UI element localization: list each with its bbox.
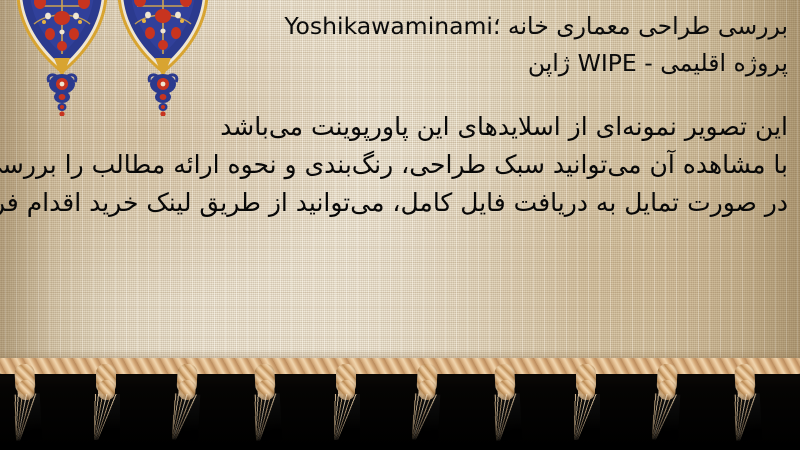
fringe-tassel [10,363,44,436]
title-line-2: پروژه اقلیمی - WIPE ژاپن [148,45,788,82]
slide-body-text: این تصویر نمونه‌ای از اسلایدهای این پاور… [8,108,788,222]
tassel-strands [94,394,120,440]
slide-title: بررسی طراحی معماری خانه ؛Yoshikawaminami… [148,8,788,82]
pendant-medallion-icon [14,0,110,116]
body-line-1: این تصویر نمونه‌ای از اسلایدهای این پاور… [8,108,788,146]
fringe-tassel [650,363,684,436]
fringe-tassel [572,364,602,436]
tassel-strands [734,393,762,440]
fringe-tassel [410,363,444,436]
fringe-tassel [730,363,764,436]
persian-carpet-pendant-left-ornament [14,0,110,120]
tassel-strands [254,393,282,440]
fringe-tassel [490,363,524,436]
tassel-strands [652,393,680,440]
carpet-fringe-band [0,350,800,450]
fringe-tassel [170,363,204,436]
tassel-strands [334,394,360,440]
fringe-tassel [92,364,122,436]
tassel-strands [494,393,522,440]
tassel-strands [172,393,200,440]
body-line-3: در صورت تمایل به دریافت فایل کامل، می‌تو… [8,184,788,222]
fringe-tassel [332,364,362,436]
tassel-strands [14,393,42,440]
title-line-1: بررسی طراحی معماری خانه ؛Yoshikawaminami [148,8,788,45]
body-line-2: با مشاهده آن می‌توانید سبک طراحی، رنگ‌بن… [8,146,788,184]
tassel-strands [574,394,600,440]
tassel-strands [412,393,440,440]
fringe-tassel [250,363,284,436]
slide-canvas: بررسی طراحی معماری خانه ؛Yoshikawaminami… [0,0,800,450]
